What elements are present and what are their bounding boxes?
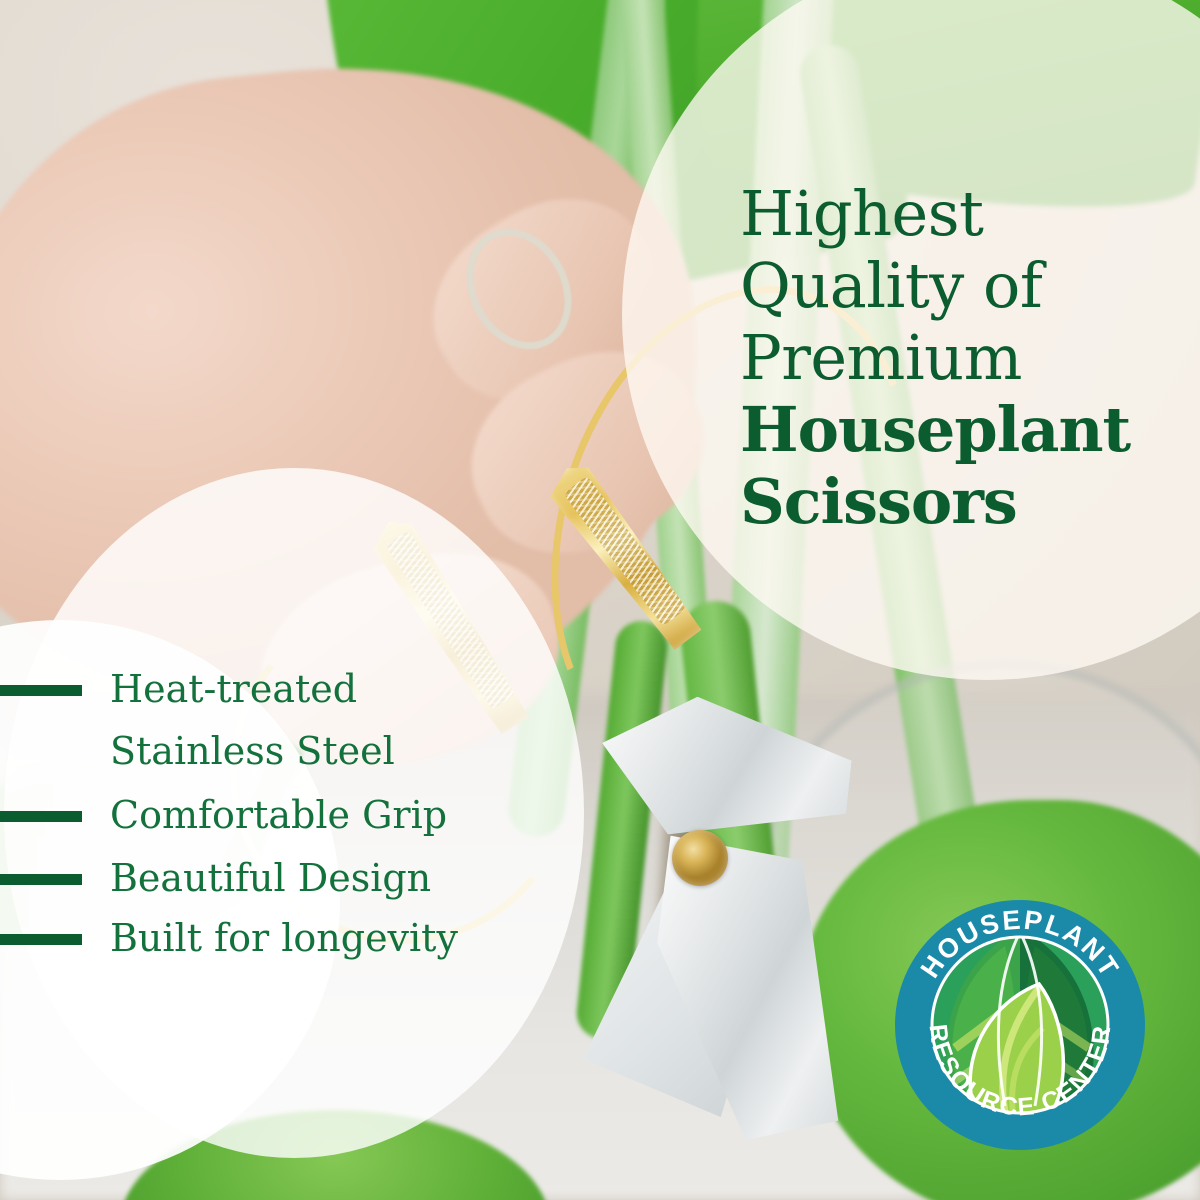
feature-dash-icon-0 bbox=[0, 685, 82, 696]
feature-dash-icon-3 bbox=[0, 934, 82, 945]
feature-label-2: Beautiful Design bbox=[110, 855, 431, 901]
headline: Highest Quality of Premium Houseplant Sc… bbox=[740, 178, 1180, 538]
poster-canvas: Highest Quality of Premium Houseplant Sc… bbox=[0, 0, 1200, 1200]
scissors-pivot-screw bbox=[672, 830, 728, 886]
headline-line-4: Houseplant bbox=[740, 394, 1180, 466]
feature-label-3: Built for longevity bbox=[110, 915, 458, 961]
feature-dash-icon-2 bbox=[0, 874, 82, 885]
headline-line-5: Scissors bbox=[740, 466, 1180, 538]
feature-label-0-line-1: Heat-treated bbox=[110, 666, 357, 712]
headline-line-1: Highest bbox=[740, 178, 1180, 250]
feature-dash-icon-1 bbox=[0, 811, 82, 822]
feature-label-1: Comfortable Grip bbox=[110, 792, 447, 838]
headline-line-2: Quality of bbox=[740, 250, 1180, 322]
feature-label-0-line-2: Stainless Steel bbox=[110, 728, 395, 774]
houseplant-resource-center-logo[interactable]: HOUSEPLANT RESOURCE CENTER bbox=[893, 898, 1147, 1152]
headline-line-3: Premium bbox=[740, 322, 1180, 394]
